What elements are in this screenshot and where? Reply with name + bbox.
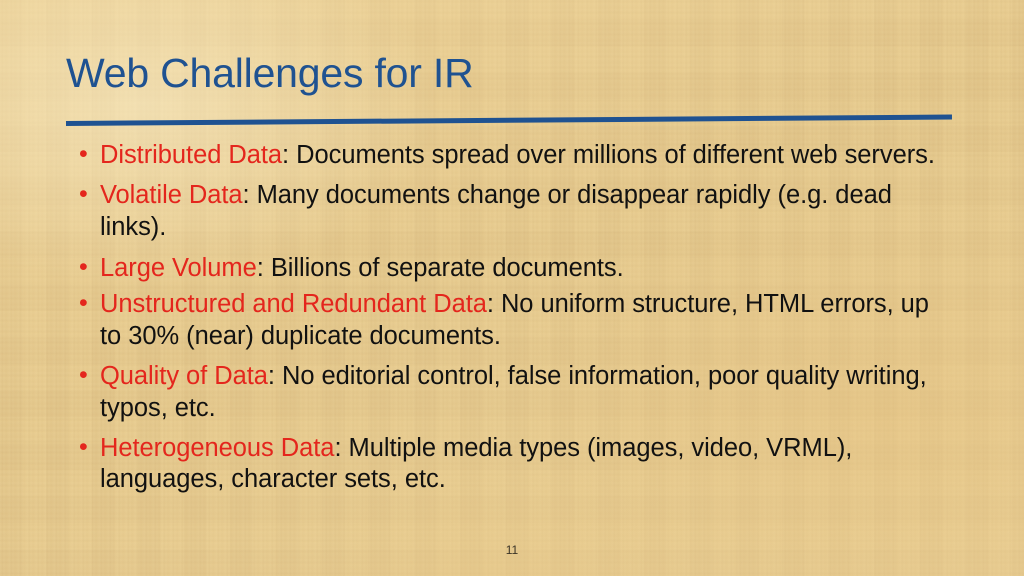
list-item: •Heterogeneous Data: Multiple media type… xyxy=(76,433,956,496)
page-title: Web Challenges for IR xyxy=(66,52,966,95)
title-underline-rule xyxy=(66,115,952,126)
bullet-dot-icon: • xyxy=(79,179,88,210)
slide-number: 11 xyxy=(0,543,1024,557)
bullet-dot-icon: • xyxy=(79,288,88,319)
bullet-dot-icon: • xyxy=(79,432,88,463)
bullet-body-text: : Documents spread over millions of diff… xyxy=(282,141,935,169)
bullet-lead-term: Quality of Data xyxy=(100,362,268,390)
bullet-dot-icon: • xyxy=(79,360,88,391)
list-item: •Distributed Data: Documents spread over… xyxy=(76,140,956,171)
bullet-dot-icon: • xyxy=(79,252,88,283)
slide-canvas: Web Challenges for IR •Distributed Data:… xyxy=(0,0,1024,576)
list-item: •Volatile Data: Many documents change or… xyxy=(76,180,956,243)
bullet-lead-term: Distributed Data xyxy=(100,141,282,169)
slide-title-container: Web Challenges for IR xyxy=(66,52,966,95)
list-item: •Unstructured and Redundant Data: No uni… xyxy=(76,289,956,352)
bullet-list: •Distributed Data: Documents spread over… xyxy=(76,140,956,496)
list-item: •Quality of Data: No editorial control, … xyxy=(76,361,956,424)
bullet-lead-term: Volatile Data xyxy=(100,181,243,209)
bullet-dot-icon: • xyxy=(79,139,88,170)
bullet-body-text: : Billions of separate documents. xyxy=(257,254,624,282)
list-item: •Large Volume: Billions of separate docu… xyxy=(76,253,956,284)
bullet-lead-term: Unstructured and Redundant Data xyxy=(100,290,487,318)
bullet-lead-term: Heterogeneous Data xyxy=(100,434,334,462)
bullet-lead-term: Large Volume xyxy=(100,254,257,282)
